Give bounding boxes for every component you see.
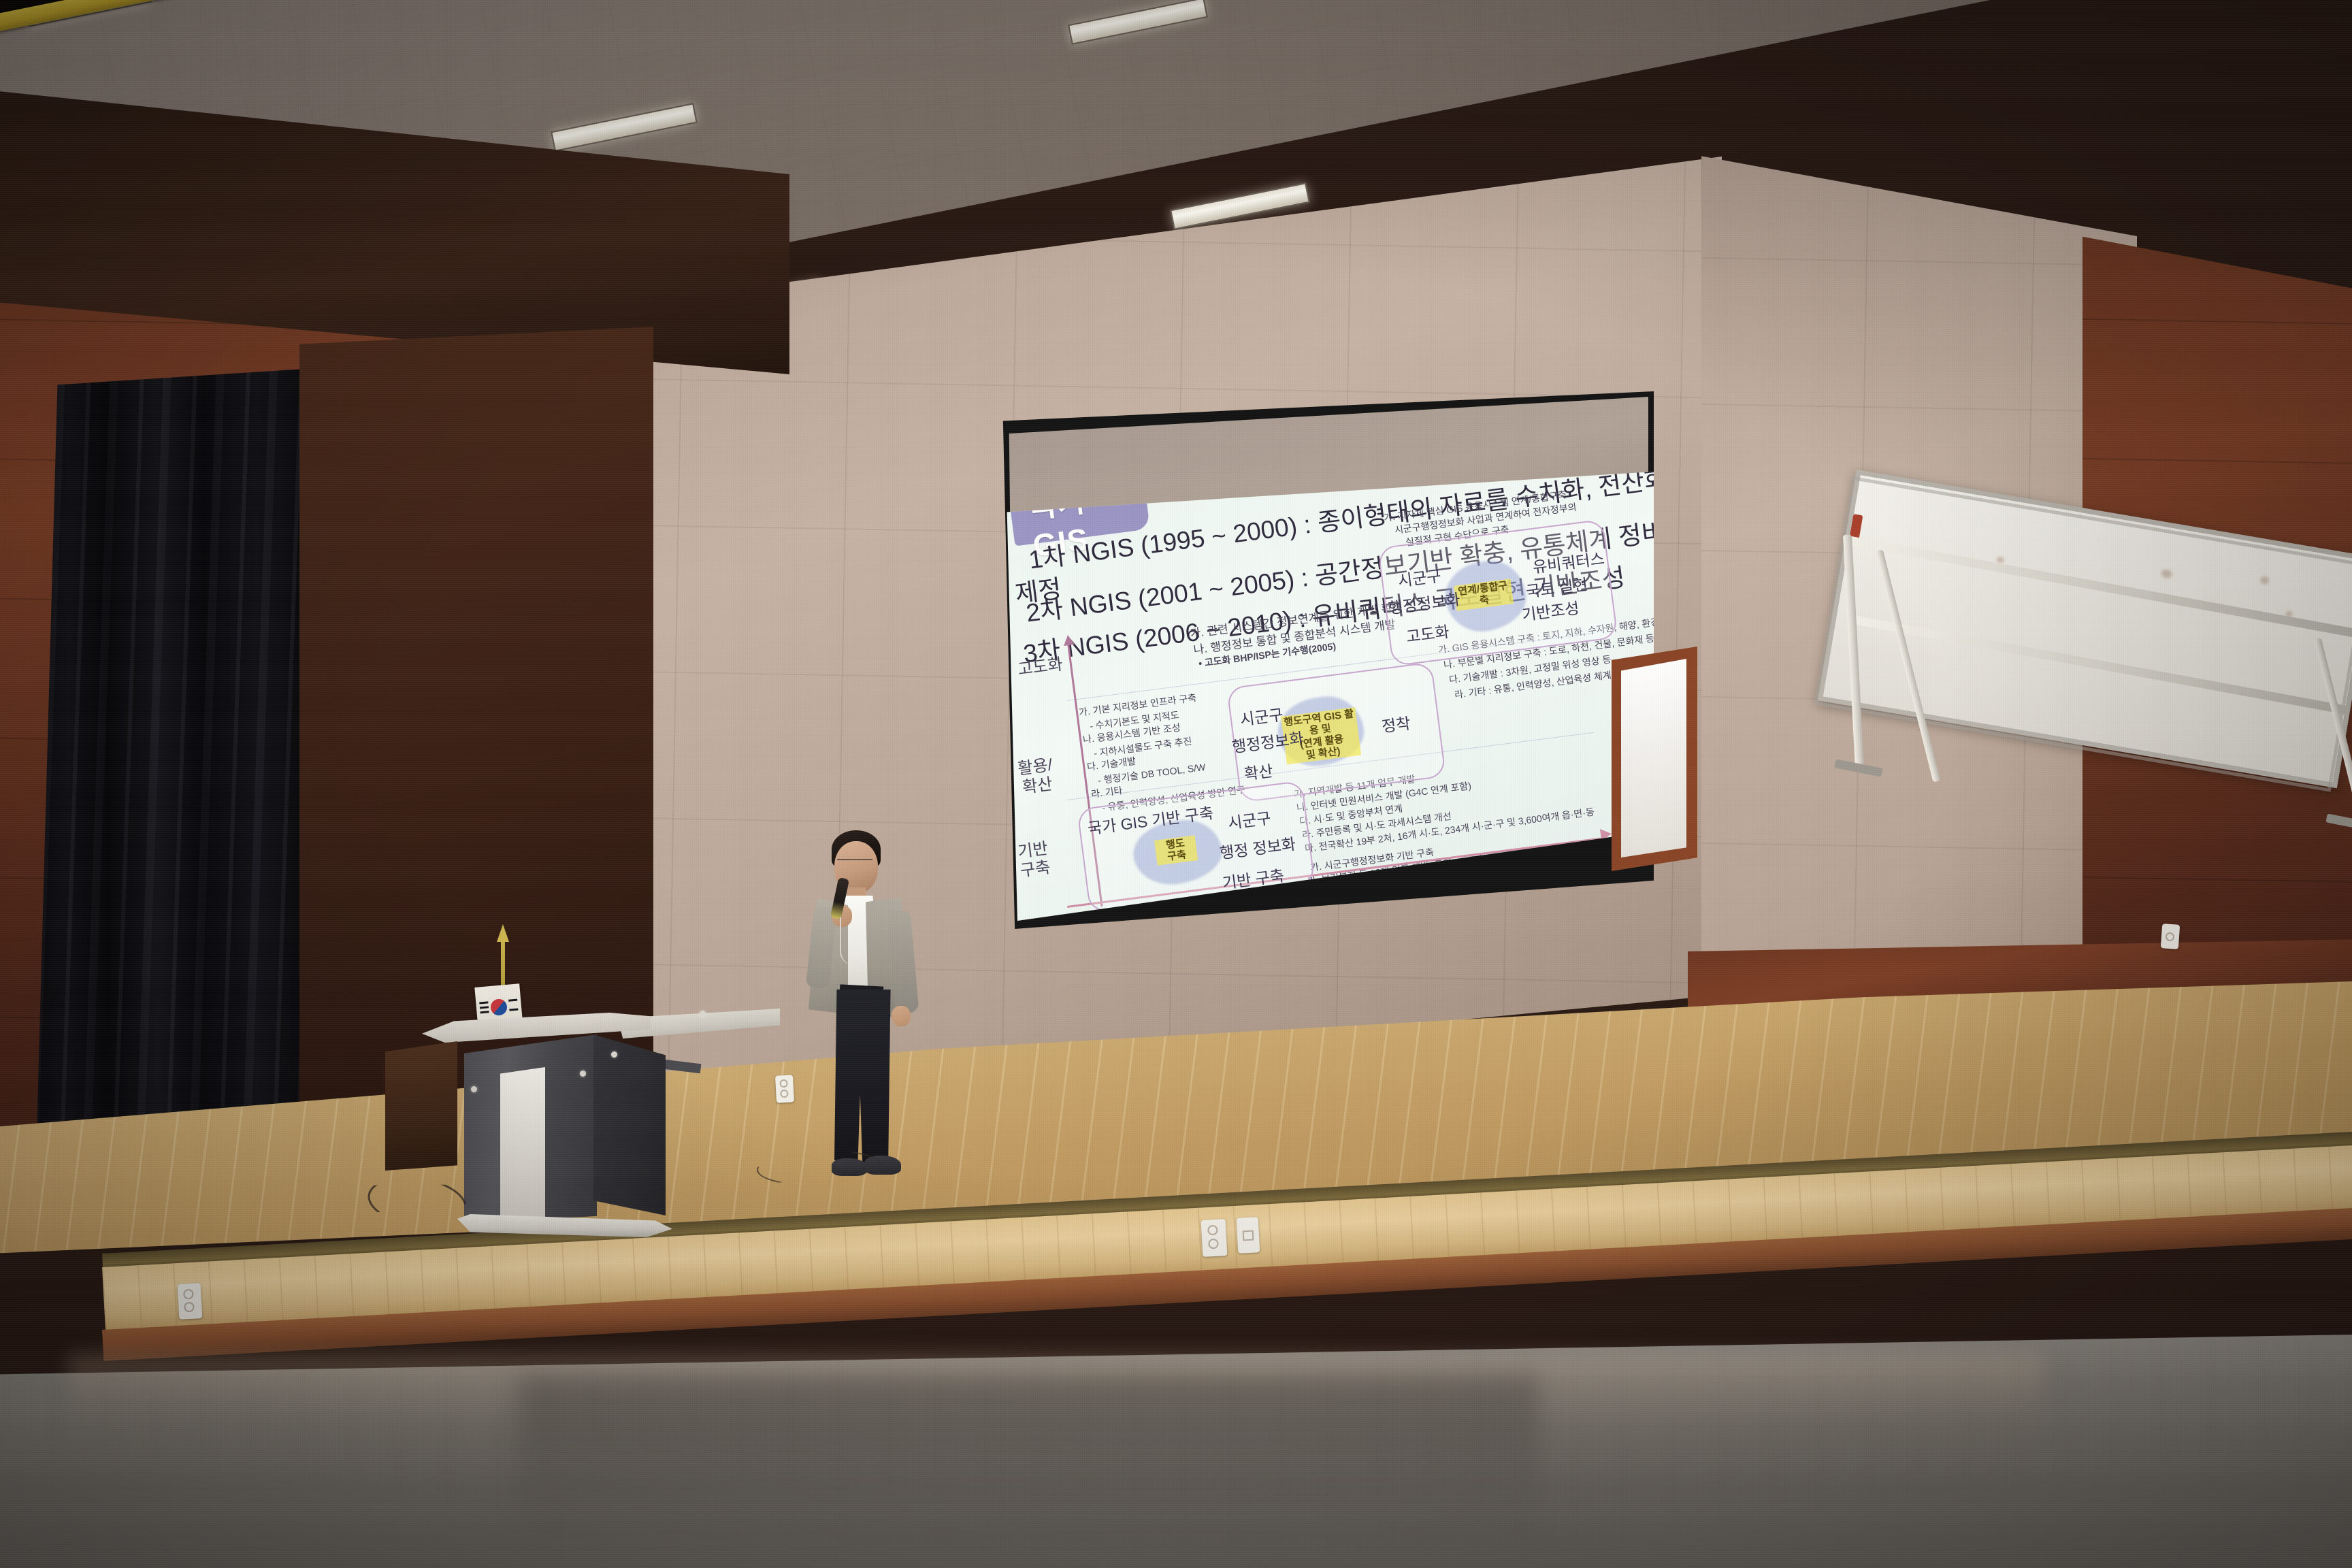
projection-screen: 국가 GIS 1차 NGIS (1995 ~ 2000) : 종이형태의 자료를… (1000, 391, 1654, 929)
box-mid-label-2: 확산 (1243, 758, 1274, 785)
outlet-socket-upper (1207, 1225, 1218, 1236)
power-outlet-left[interactable] (178, 1283, 203, 1320)
taeguk-symbol (490, 998, 508, 1016)
podium-indicator-light (471, 1086, 477, 1092)
presenter-hand-right (892, 1006, 911, 1026)
chart-y-axis-arrow (1062, 634, 1075, 646)
trigram-bar (480, 1006, 489, 1009)
podium-accent-stripe (500, 1067, 545, 1230)
wall-outlet-right[interactable] (2161, 924, 2180, 949)
jack-port (1243, 1230, 1254, 1241)
microphone-cord (840, 917, 853, 965)
trigram-bar (479, 1001, 488, 1004)
wall-light-panel (1621, 659, 1686, 857)
podium[interactable] (415, 926, 769, 1245)
auditorium-scene: 국가 GIS 1차 NGIS (1995 ~ 2000) : 종이형태의 자료를… (0, 0, 2352, 1568)
presenter[interactable] (789, 830, 966, 1191)
podium-knob (700, 1011, 706, 1017)
blob-label-bottom: 행도 구축 (1154, 835, 1198, 865)
outlet-socket-lower (1208, 1239, 1219, 1249)
podium-top-surface (422, 1013, 651, 1043)
data-jack[interactable] (1237, 1217, 1260, 1254)
outlet-socket (2166, 932, 2175, 942)
podium-base (457, 1214, 672, 1237)
presenter-trousers (834, 990, 893, 1164)
trigram-bar (480, 1011, 489, 1013)
box-mid-rlabel-0: 정착 (1380, 710, 1411, 737)
outlet-socket-upper (183, 1289, 194, 1300)
power-outlet[interactable] (1201, 1219, 1228, 1257)
curtain-folds (34, 367, 327, 1232)
outlet-socket-lower (780, 1090, 789, 1098)
flag-finial (497, 924, 509, 942)
podium-indicator-light (580, 1071, 586, 1077)
stage-curtain (34, 367, 327, 1232)
whiteboard-back-edge (1814, 476, 2352, 792)
chart-row-label-1: 활용/ 확산 (1017, 756, 1056, 798)
glasses-icon (837, 859, 872, 868)
trigram-bar (509, 1009, 518, 1011)
stage-chair (385, 1041, 457, 1171)
chart-row-label-2: 기반 구축 (1017, 839, 1051, 880)
podium-side-panel (593, 1029, 666, 1215)
outlet-socket-lower (184, 1302, 195, 1313)
outlet-socket-upper (779, 1079, 788, 1088)
floor-reflection-dark (517, 1375, 1538, 1552)
podium-indicator-light (611, 1051, 617, 1058)
trigram-bar (508, 999, 517, 1002)
whiteboard[interactable] (1837, 470, 2352, 1028)
whiteboard-foot-right (2325, 813, 2352, 831)
